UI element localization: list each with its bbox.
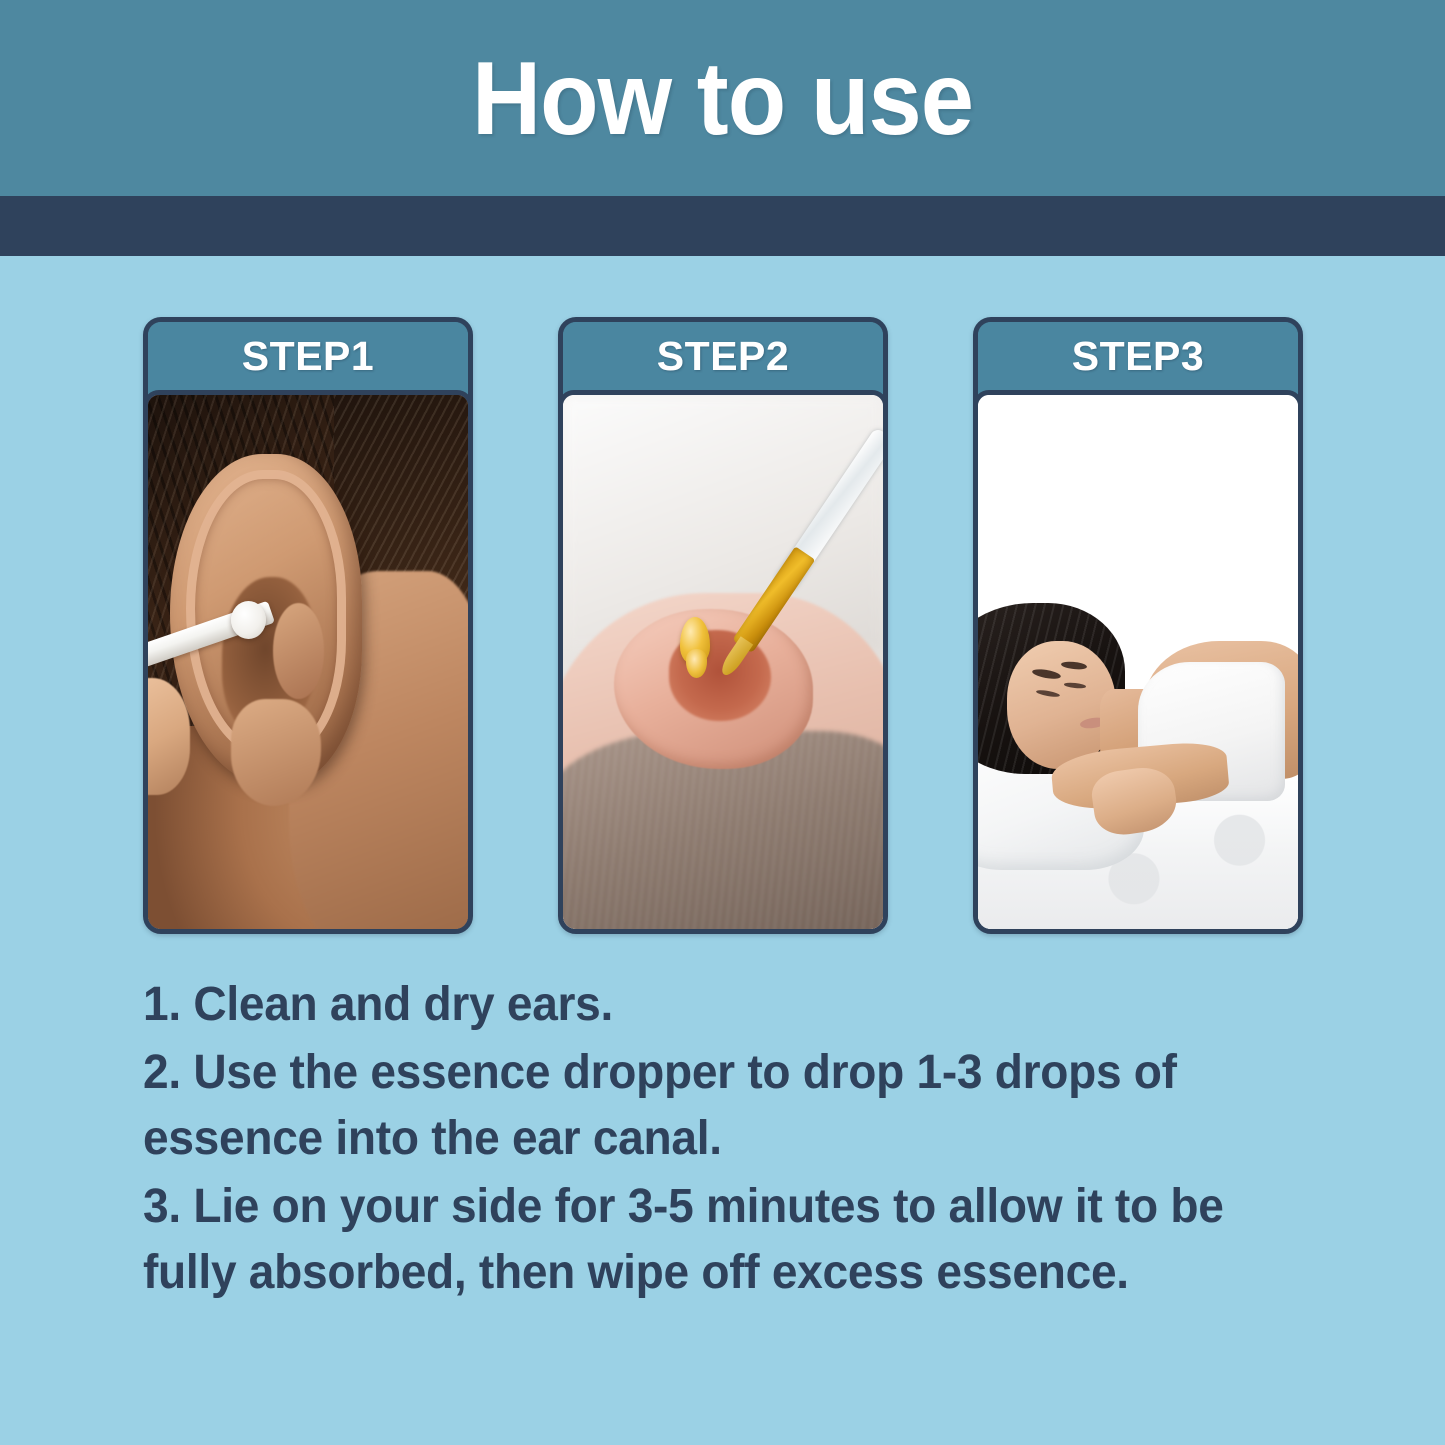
step-header-3: STEP3	[978, 322, 1298, 390]
step-label-2: STEP2	[657, 333, 789, 380]
instruction-item-1: 1. Clean and dry ears.	[143, 972, 1276, 1038]
instruction-item-2: 2. Use the essence dropper to drop 1-3 d…	[143, 1040, 1276, 1172]
ear-cleaning-photo	[148, 395, 468, 929]
step-photo-3	[973, 390, 1303, 934]
header-band: How to use	[0, 0, 1445, 196]
photo1-ear-tragus	[273, 603, 324, 699]
instruction-item-3: 3. Lie on your side for 3-5 minutes to a…	[143, 1174, 1276, 1306]
dropper-photo	[563, 395, 883, 929]
step-header-1: STEP1	[148, 322, 468, 390]
step-card-1: STEP1	[143, 317, 473, 934]
step-label-1: STEP1	[242, 333, 374, 380]
step-photo-1	[143, 390, 473, 934]
photo2-dropper-nozzle	[718, 636, 753, 678]
step-card-2: STEP2	[558, 317, 888, 934]
how-to-use-infographic: How to use STEP1	[0, 0, 1445, 1445]
step-header-2: STEP2	[563, 322, 883, 390]
instructions-list: 1. Clean and dry ears. 2. Use the essenc…	[143, 972, 1276, 1308]
page-title: How to use	[58, 44, 1387, 154]
header-accent-band	[0, 196, 1445, 256]
sleeping-woman-photo	[978, 395, 1298, 929]
step-card-3: STEP3	[973, 317, 1303, 934]
steps-row: STEP1	[143, 317, 1303, 934]
step-photo-2	[558, 390, 888, 934]
step-label-3: STEP3	[1072, 333, 1204, 380]
